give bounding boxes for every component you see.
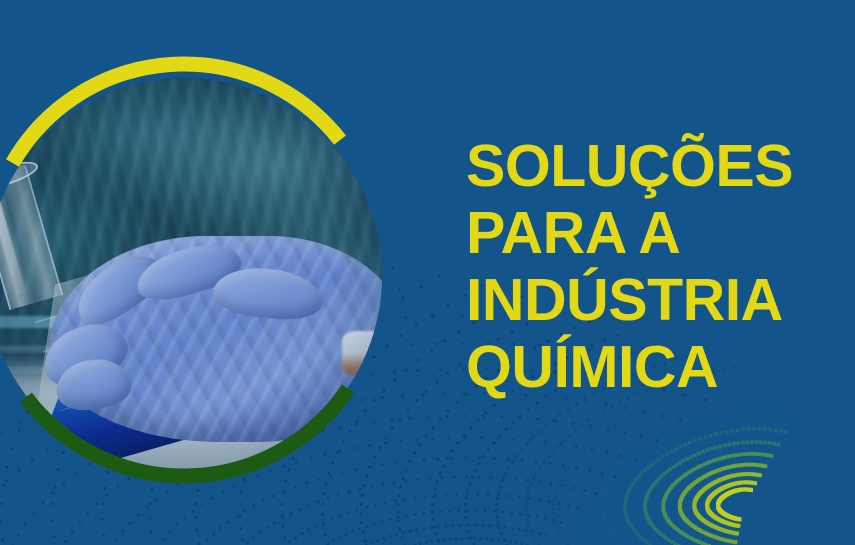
headline-line-1: SOLUÇÕES — [466, 133, 796, 200]
banner-canvas: SOLUÇÕES PARA A INDÚSTRIA QUÍMICA — [0, 0, 855, 545]
headline-line-2: PARA A — [466, 200, 796, 267]
photo-vignette — [0, 78, 382, 474]
headline-line-4: QUÍMICA — [466, 334, 796, 401]
headline: SOLUÇÕES PARA A INDÚSTRIA QUÍMICA — [466, 133, 796, 401]
headline-line-3: INDÚSTRIA — [466, 267, 796, 334]
lab-photo-circle — [0, 78, 382, 474]
